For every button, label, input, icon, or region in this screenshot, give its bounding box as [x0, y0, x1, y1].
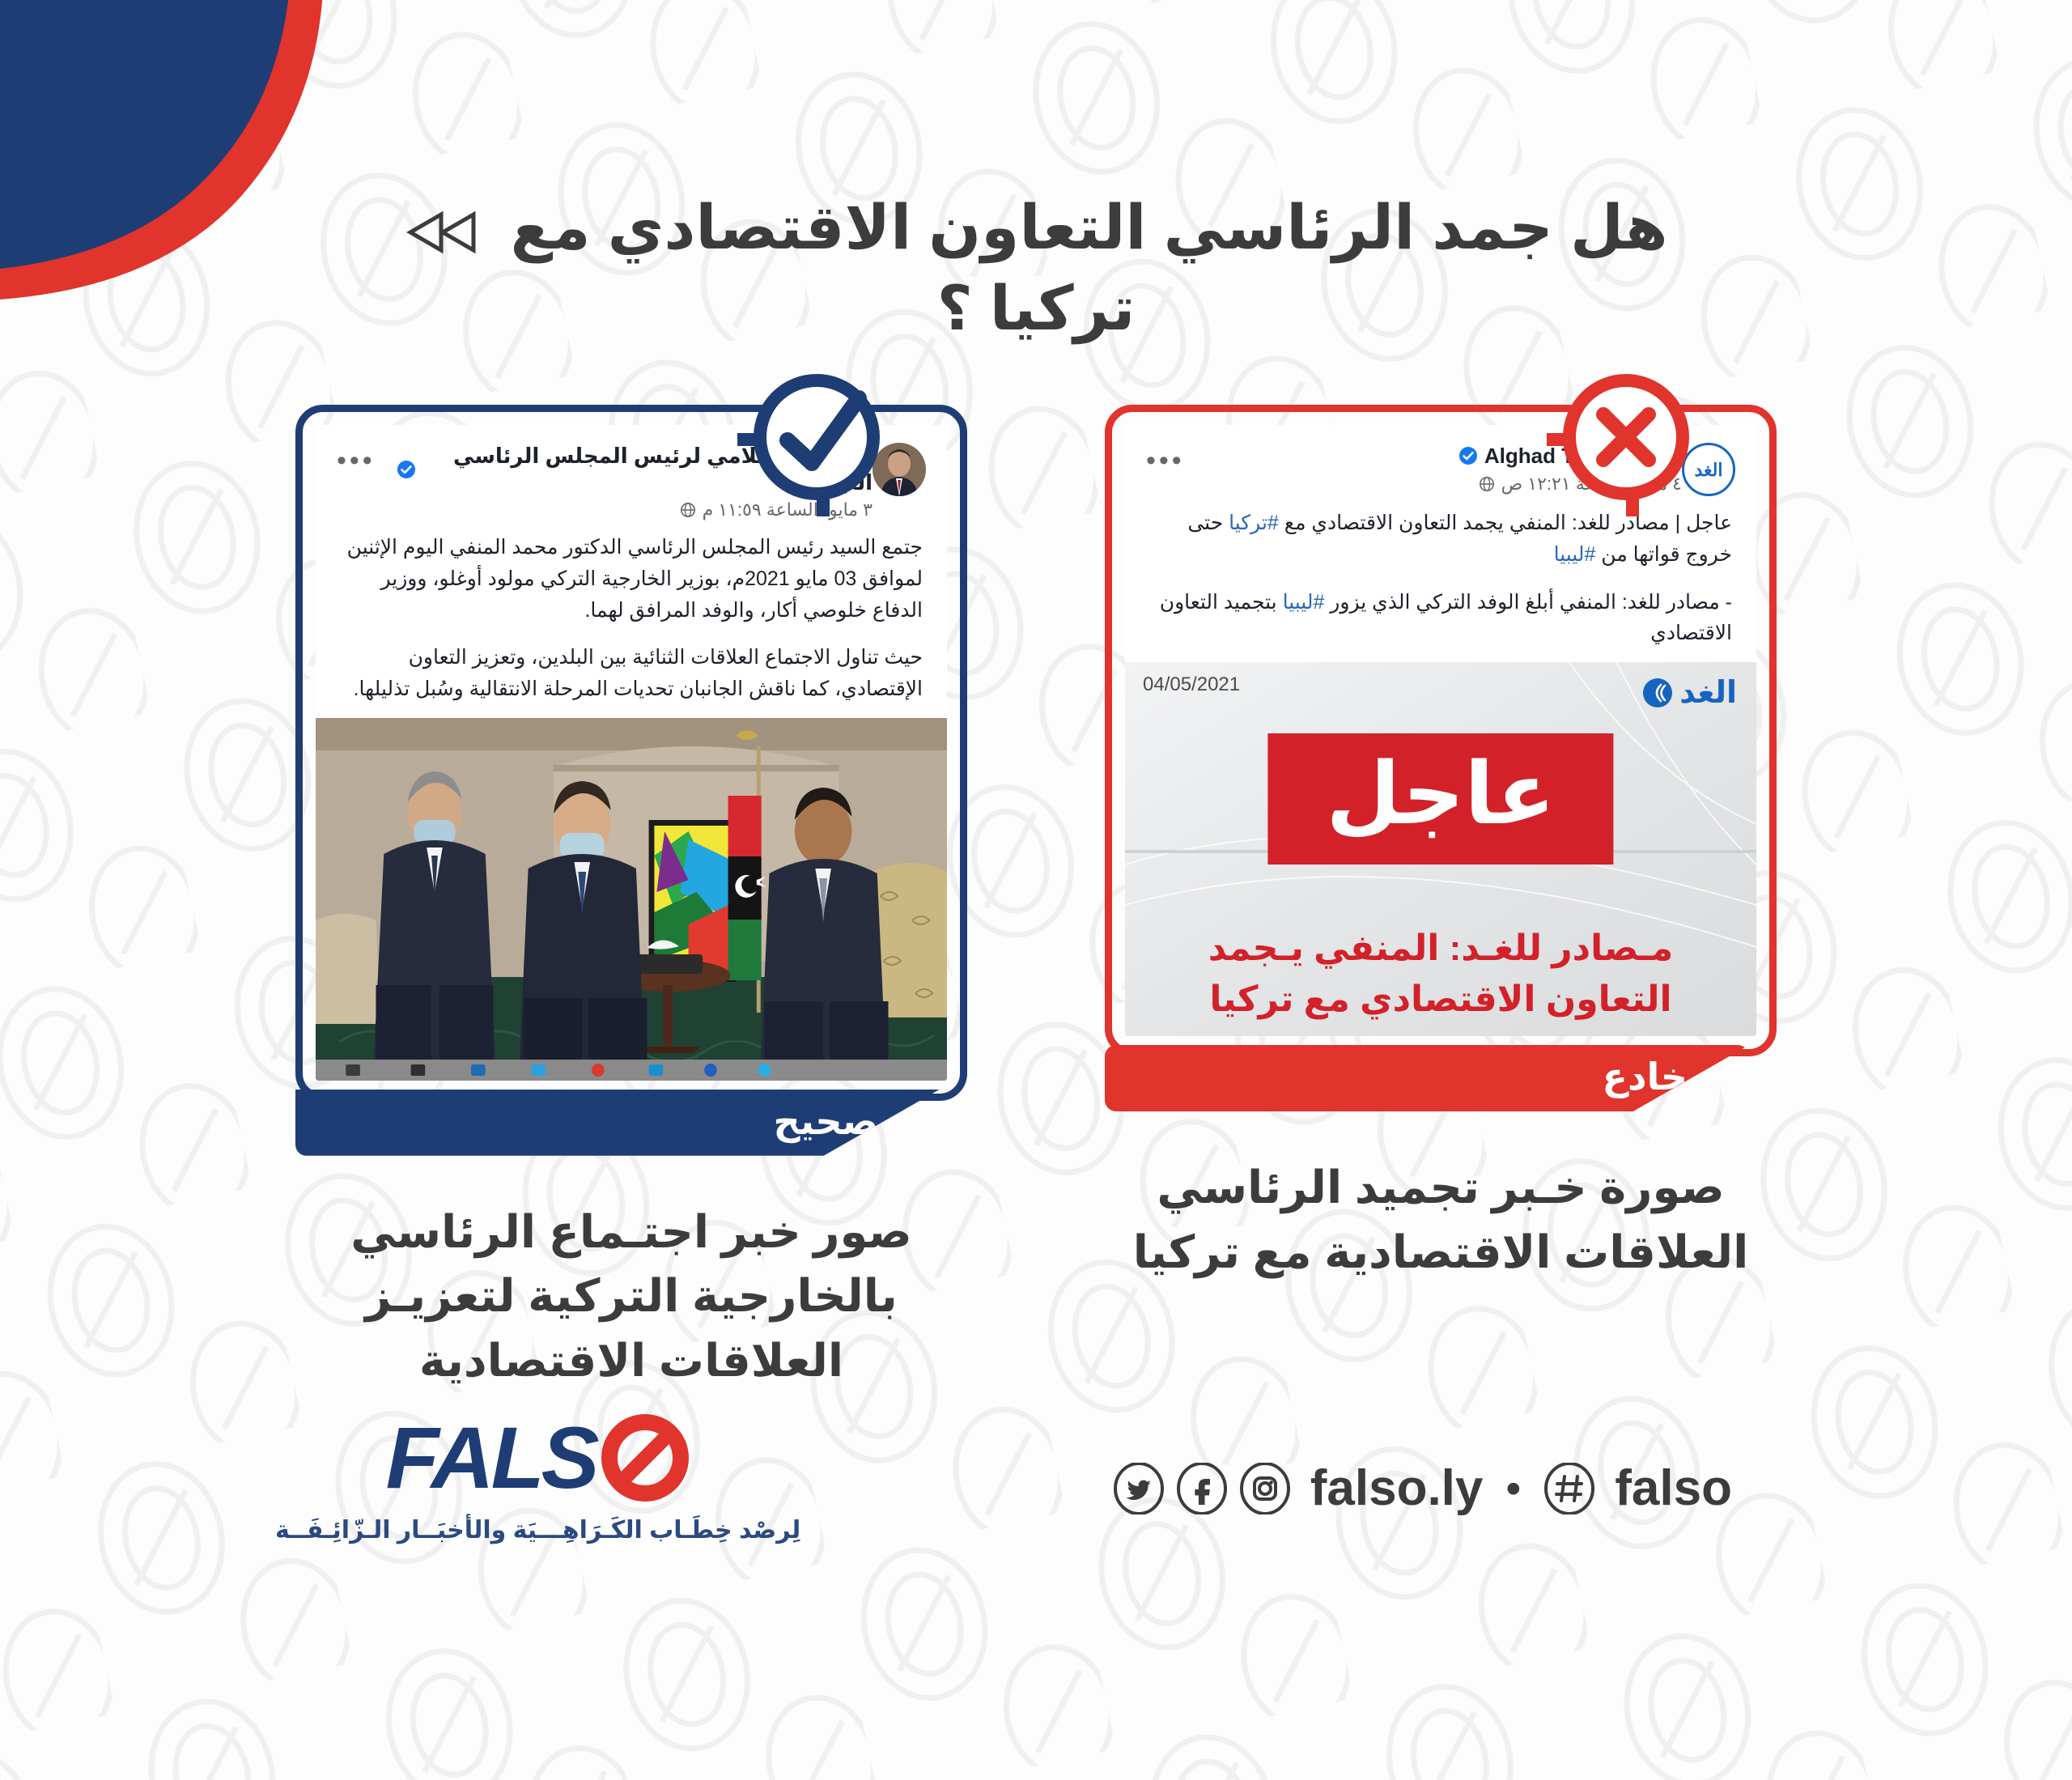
no-entry-slash-o-icon	[600, 1413, 690, 1503]
poster-title: هل جمد الرئاسي التعاون الاقتصادي مع تركي…	[0, 188, 2072, 350]
falso-brand: FALS لِرصْد خِطَـاب الكَـرَاهِـــيَة وال…	[275, 1413, 800, 1544]
hash-circle-icon[interactable]	[1543, 1463, 1595, 1514]
alghad-logo: الغد	[1641, 677, 1737, 709]
falso-tagline: لِرصْد خِطَـاب الكَـرَاهِـــيَة والأخبَـ…	[275, 1516, 800, 1544]
hashtag-libya[interactable]: #ليبيا	[1283, 591, 1325, 614]
verified-badge-icon	[397, 460, 416, 479]
card-column-true: المكتب الإعلامي لرئيس المجلس الرئاسي الل…	[267, 405, 996, 1392]
social-handles: falso.ly • falso	[1113, 1463, 1732, 1514]
x-circle-icon	[1547, 363, 1700, 516]
true-card-holder: المكتب الإعلامي لرئيس المجلس الرئاسي الل…	[295, 405, 967, 1156]
alghad-swoosh-icon	[1641, 677, 1674, 709]
tv-headline-line-2: التعاون الاقتصادي مع تركيا	[1148, 975, 1734, 1025]
verdict-tag-true: صحيح	[295, 1090, 940, 1156]
post-paragraph: جتمع السيد رئيس المجلس الرئاسي الدكتور م…	[340, 532, 923, 626]
meeting-photo	[316, 718, 947, 1081]
title-line-1: هل جمد الرئاسي التعاون الاقتصادي مع	[511, 193, 1668, 262]
card-column-false: الغد قناة الغد Alghad TV	[1076, 405, 1805, 1392]
false-card-holder: الغد قناة الغد Alghad TV	[1105, 405, 1777, 1111]
handle-tag[interactable]: falso	[1615, 1464, 1732, 1514]
more-options-icon[interactable]: •••	[337, 443, 384, 469]
post-paragraph: حيث تناول الاجتماع العلاقات الثنائية بين…	[340, 642, 923, 705]
post-paragraph: عاجل | مصادر للغد: المنفي يجمد التعاون ا…	[1149, 508, 1732, 571]
falso-wordmark: FALS	[386, 1414, 597, 1502]
twitter-icon[interactable]	[1113, 1463, 1165, 1514]
alghad-logo-text: الغد	[1679, 678, 1737, 708]
rewind-double-left-icon	[404, 210, 478, 255]
handle-website[interactable]: falso.ly	[1310, 1464, 1484, 1514]
tv-headline: مـصادر للغـد: المنفي يـجمد التعاون الاقت…	[1125, 924, 1756, 1025]
poster-footer: FALS لِرصْد خِطَـاب الكَـرَاهِـــيَة وال…	[0, 1359, 2072, 1780]
globe-icon	[1479, 476, 1495, 492]
title-line-2: تركيا ؟	[0, 269, 2072, 350]
comparison-cards: الغد قناة الغد Alghad TV	[0, 405, 2072, 1392]
meeting-photo-illustration	[316, 718, 947, 1081]
tv-headline-line-1: مـصادر للغـد: المنفي يـجمد	[1148, 924, 1734, 974]
post-body-presidency: جتمع السيد رئيس المجلس الرئاسي الدكتور م…	[316, 525, 947, 718]
screenshot-taskbar	[316, 1060, 947, 1081]
title-line-1-row: هل جمد الرئاسي التعاون الاقتصادي مع	[0, 188, 2072, 269]
verdict-tag-false: خادع	[1105, 1045, 1749, 1111]
instagram-icon[interactable]	[1239, 1463, 1291, 1514]
tv-date: 04/05/2021	[1143, 673, 1240, 696]
breaking-news-badge: عاجل	[1267, 733, 1613, 865]
more-options-icon[interactable]: •••	[1146, 443, 1193, 469]
infographic-poster: هل جمد الرئاسي التعاون الاقتصادي مع تركي…	[0, 0, 2072, 1780]
falso-logo: FALS	[275, 1413, 800, 1503]
globe-icon	[680, 502, 696, 518]
post-body-alghad: عاجل | مصادر للغد: المنفي يجمد التعاون ا…	[1125, 501, 1756, 662]
facebook-icon[interactable]	[1176, 1463, 1228, 1514]
true-post-screenshot: المكتب الإعلامي لرئيس المجلس الرئاسي الل…	[316, 425, 947, 1081]
hashtag-turkey[interactable]: #تركيا	[1229, 512, 1279, 534]
false-post-screenshot: الغد قناة الغد Alghad TV	[1125, 425, 1756, 1036]
caption-false: صورة خـبر تجميد الرئاسي العلاقات الاقتصا…	[1076, 1155, 1805, 1284]
verified-badge-icon	[1458, 446, 1478, 465]
hashtag-libya[interactable]: #ليبيا	[1554, 543, 1596, 566]
check-circle-icon	[737, 363, 891, 516]
post-paragraph: - مصادر للغد: المنفي أبلغ الوفد التركي ا…	[1149, 587, 1732, 650]
tv-news-graphic: 04/05/2021 الغد	[1125, 662, 1756, 1036]
handle-separator: •	[1505, 1467, 1521, 1510]
